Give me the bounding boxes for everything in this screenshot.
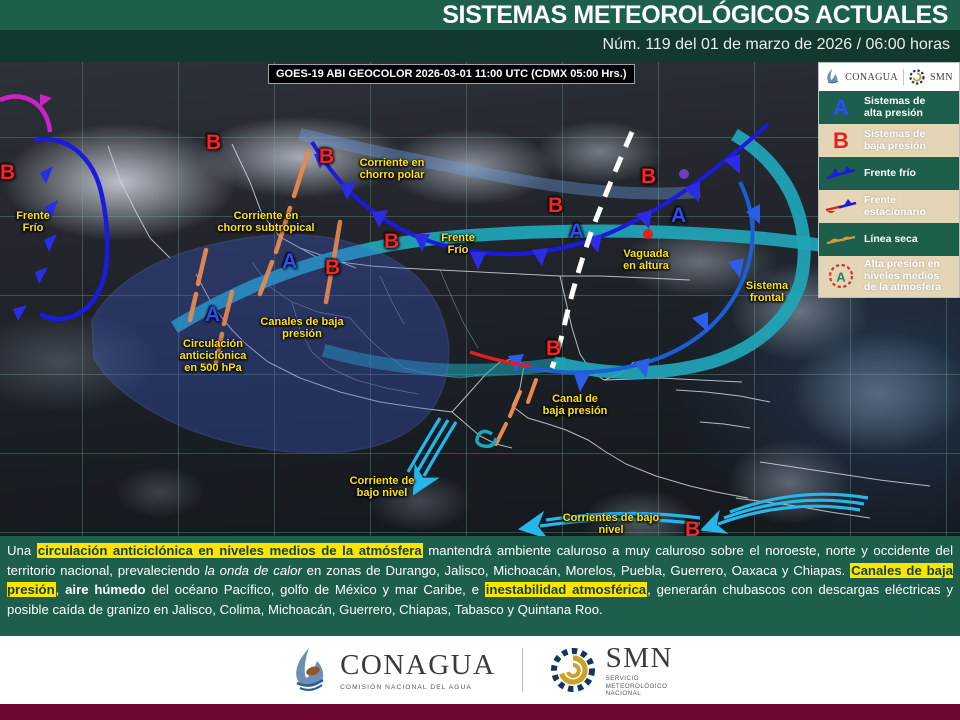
conagua-text-block: CONAGUA COMISIÓN NACIONAL DEL AGUA — [340, 649, 496, 691]
highlighted-term: inestabilidad atmosférica — [485, 582, 647, 597]
low-pressure-marker: B — [325, 256, 340, 280]
description-text: Una circulación anticiclónica en niveles… — [7, 543, 953, 617]
label-frente-frio-oeste: Frente Frío — [4, 210, 62, 234]
legend-item-frente-frio: Frente frío — [819, 157, 959, 190]
label-corriente-chorro-subtropical: Corriente en chorro subtropical — [214, 210, 318, 234]
description-segment: Una — [7, 543, 37, 558]
low-pressure-marker: B — [641, 165, 656, 189]
cold-front-icon — [824, 166, 858, 182]
footer-divider — [522, 648, 523, 692]
label-corrientes-de-bajo-nivel: Corrientes de bajo nivel — [552, 512, 670, 536]
legend-item-baja-presion: B Sistemas de baja presión — [819, 124, 959, 157]
low-pressure-marker: B — [546, 337, 561, 361]
legend-smn-label: SMN — [930, 72, 953, 83]
satellite-product-title: GOES-19 ABI GEOCOLOR 2026-03-01 11:00 UT… — [268, 64, 635, 84]
conagua-name: CONAGUA — [340, 649, 496, 682]
description-segment: en zonas de Durango, Jalisco, Michoacán,… — [302, 563, 850, 578]
weather-bulletin-page: SISTEMAS METEOROLÓGICOS ACTUALES Núm. 11… — [0, 0, 960, 720]
legend-label: Línea seca — [864, 234, 918, 246]
legend-item-alta-niveles-medios: A Alta presión en niveles medios de la a… — [819, 256, 959, 297]
conagua-brand: CONAGUA COMISIÓN NACIONAL DEL AGUA — [287, 645, 496, 695]
legend-label: Sistemas de baja presión — [864, 129, 926, 152]
bold-term: aire húmedo — [65, 582, 146, 597]
forecast-description: Una circulación anticiclónica en niveles… — [0, 536, 960, 636]
low-pressure-marker: B — [319, 145, 334, 169]
dry-line-icon — [824, 232, 858, 248]
map-legend: CONAGUA SMN A Sistemas de alta presión B — [818, 62, 960, 298]
label-vaguada-en-altura: Vaguada en altura — [613, 248, 679, 272]
smn-name: SMN — [606, 642, 673, 675]
bottom-accent-bar — [0, 704, 960, 720]
conagua-subtitle: COMISIÓN NACIONAL DEL AGUA — [340, 684, 496, 691]
label-frente-frio-centro: Frente Frío — [434, 232, 482, 256]
conagua-logo-icon — [287, 645, 331, 695]
low-pressure-marker: B — [384, 230, 399, 254]
label-corriente-chorro-polar: Corriente en chorro polar — [348, 157, 436, 181]
legend-divider — [903, 69, 904, 85]
description-segment: , — [56, 582, 65, 597]
stationary-front-icon — [824, 199, 858, 215]
header-bar: SISTEMAS METEOROLÓGICOS ACTUALES — [0, 0, 960, 30]
legend-item-alta-presion: A Sistemas de alta presión — [819, 91, 959, 124]
letter-b-icon: B — [824, 128, 858, 154]
legend-conagua-label: CONAGUA — [845, 72, 898, 83]
satellite-map[interactable]: GOES-19 ABI GEOCOLOR 2026-03-01 11:00 UT… — [0, 62, 960, 536]
legend-label: Alta presión en niveles medios de la atm… — [864, 259, 941, 294]
smn-brand: SMN SERVICIO METEOROLÓGICO NACIONAL — [549, 642, 673, 698]
legend-item-frente-estacionario: Frente estacionario — [819, 190, 959, 223]
smn-logo-icon — [549, 646, 597, 694]
smn-text-block: SMN SERVICIO METEOROLÓGICO NACIONAL — [606, 642, 673, 698]
cold-front-west — [0, 94, 107, 321]
low-pressure-channel-right — [496, 380, 536, 444]
high-pressure-marker: A — [671, 204, 686, 228]
legend-label: Frente frío — [864, 168, 916, 180]
label-sistema-frontal: Sistema frontal — [740, 280, 794, 304]
legend-brand-header: CONAGUA SMN — [819, 63, 959, 91]
footer-logos: CONAGUA COMISIÓN NACIONAL DEL AGUA SMN S… — [0, 636, 960, 704]
header-subtitle-bar: Núm. 119 del 01 de marzo de 2026 / 06:00… — [0, 30, 960, 62]
smn-logo-icon — [909, 69, 925, 85]
map-overlay-graphics — [0, 62, 960, 536]
conagua-logo-icon — [825, 68, 840, 86]
bulletin-number-date: Núm. 119 del 01 de marzo de 2026 / 06:00… — [603, 36, 950, 54]
low-pressure-marker: B — [685, 518, 700, 536]
mid-level-high-icon: A — [824, 262, 858, 290]
label-canales-de-baja-presion: Canales de baja presión — [252, 316, 352, 340]
high-pressure-marker: A — [569, 220, 584, 244]
low-pressure-marker: B — [0, 161, 15, 185]
low-pressure-marker: B — [548, 194, 563, 218]
label-circulacion-anticiclonica: Circulación anticiclónica en 500 hPa — [172, 338, 254, 374]
legend-label: Sistemas de alta presión — [864, 96, 925, 119]
high-pressure-marker: A — [282, 250, 297, 274]
page-title: SISTEMAS METEOROLÓGICOS ACTUALES — [442, 1, 948, 30]
description-segment: del océano Pacífico, golfo de México y m… — [146, 582, 485, 597]
legend-item-linea-seca: Línea seca — [819, 223, 959, 256]
letter-a-icon: A — [824, 95, 858, 121]
label-canal-de-baja-presion: Canal de baja presión — [536, 393, 614, 417]
legend-label: Frente estacionario — [864, 195, 926, 218]
high-pressure-marker: A — [205, 303, 220, 327]
low-pressure-marker: B — [206, 131, 221, 155]
smn-subtitle: SERVICIO METEOROLÓGICO NACIONAL — [606, 675, 673, 698]
italic-term: la onda de calor — [205, 563, 302, 578]
highlighted-term: circulación anticiclónica en niveles med… — [37, 543, 423, 558]
svg-text:A: A — [836, 270, 846, 285]
label-corriente-de-bajo-nivel: Corriente de bajo nivel — [342, 475, 422, 499]
